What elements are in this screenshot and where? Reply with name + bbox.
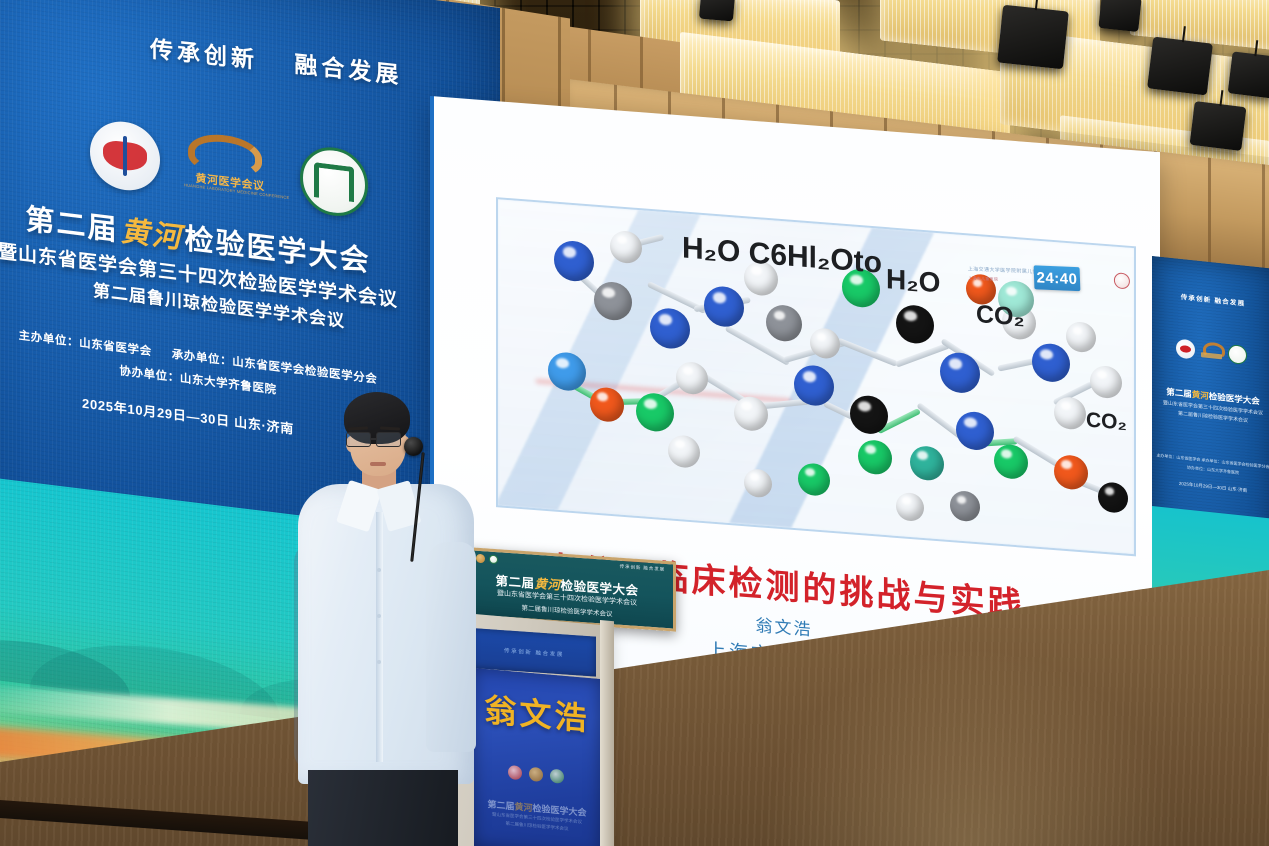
title-part-gold: 黄河 [120, 215, 182, 255]
huanghe-medical-conference-logo: 黄河医学会议 HUANGHE LABORATORY MEDICINE CONFE… [184, 130, 276, 207]
side-title-gold: 黄河 [1192, 389, 1209, 401]
stage-spotlight [1228, 51, 1269, 98]
speaker-shirt-button [377, 614, 381, 618]
co-value: 山东大学齐鲁医院 [180, 373, 277, 397]
exec-label: 承办单位： [172, 349, 233, 368]
speaker-shirt-button [377, 568, 381, 572]
speaker-mouth [370, 462, 386, 466]
qilu-hospital-logo [489, 555, 498, 565]
speaker-shirt-button [377, 660, 381, 664]
stage-spotlight [1147, 37, 1213, 96]
molecule-photo: H₂O C6Hl₂Oto H₂O CO₂ CO₂ 上海交通大学医学院附属儿童医院… [496, 197, 1136, 556]
speaker-person [284, 392, 474, 846]
stage-spotlight [997, 5, 1069, 70]
huanghe-medical-conference-logo [476, 554, 485, 564]
stage-spotlight [1190, 101, 1247, 151]
formula-label: H₂O [886, 263, 940, 299]
nameplate-title-gold: 黄河 [514, 802, 532, 814]
host-label: 主办单位： [19, 330, 80, 349]
hospital-name-line2: 上海市儿童医院 [968, 275, 998, 282]
speaker-shirt-placket [376, 512, 383, 762]
nameplate-speaker-name: 翁文浩 [474, 684, 600, 741]
nameplate-logo-row [508, 765, 564, 784]
co-label: 协办单位： [119, 365, 180, 384]
side-title-a: 第二届 [1166, 386, 1192, 399]
formula-label: CO₂ [1086, 408, 1127, 435]
speaker-glasses [346, 432, 412, 448]
qilu-hospital-logo [550, 769, 564, 784]
stage-spotlight [699, 0, 735, 21]
podium-sign-slogan: 传承创新 融合发展 [620, 564, 665, 573]
microphone-head-icon [404, 437, 423, 456]
shandong-medical-association-logo [1176, 339, 1195, 360]
shandong-medical-association-logo [508, 765, 522, 780]
conference-stage-photo: 传承创新 融合发展 黄河医学会议 HUANGHE LABORATORY MEDI… [0, 0, 1269, 846]
qilu-hospital-logo [1228, 344, 1247, 365]
podium-panel-slogan: 传承创新 融合发展 [472, 644, 596, 661]
podium-nameplate: 翁文浩 第二届黄河检验医学大会 暨山东省医学会第三十四次检验医学学术会议 第二届… [474, 668, 600, 846]
nameplate-title-a: 第二届 [487, 799, 514, 811]
floor-light-pool [760, 646, 1180, 846]
shandong-medical-association-logo [90, 118, 160, 195]
speaker-arm [426, 542, 476, 752]
hospital-logo-icon [1114, 272, 1131, 289]
huanghe-medical-conference-logo [529, 767, 543, 782]
huanghe-medical-conference-logo [1201, 341, 1222, 362]
countdown-timer-badge: 24:40 [1034, 265, 1081, 291]
stage-spotlight [1098, 0, 1141, 32]
podium-side-edge [600, 620, 614, 846]
speaker-trousers [308, 770, 458, 846]
formula-label: CO₂ [976, 300, 1025, 333]
qilu-hospital-logo [300, 143, 368, 219]
